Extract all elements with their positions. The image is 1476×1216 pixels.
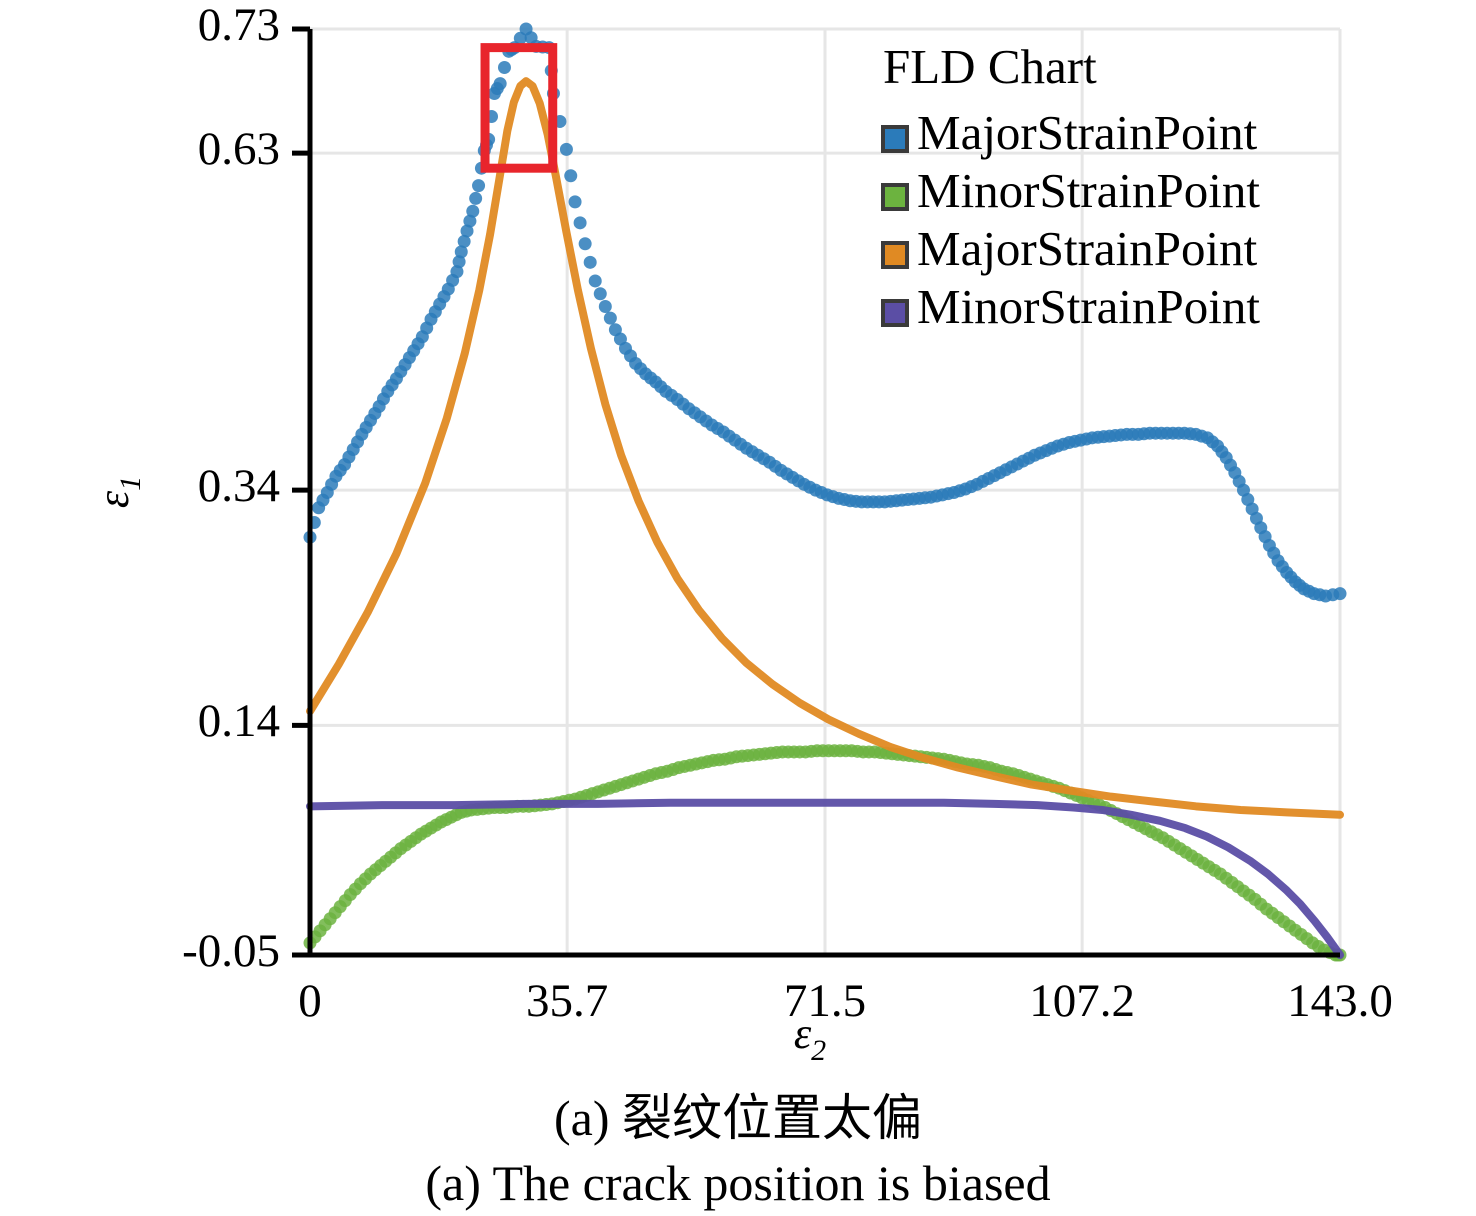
data-point <box>494 77 507 90</box>
data-point <box>574 216 587 229</box>
data-point <box>604 312 617 325</box>
caption-chinese: (a) 裂纹位置太偏 <box>554 1090 922 1146</box>
y-tick-label-1: 0.63 <box>198 123 280 175</box>
legend-marker-1-square-icon[interactable] <box>883 185 907 209</box>
data-point <box>498 61 511 74</box>
x-tick-label-3: 107.2 <box>1029 975 1135 1027</box>
legend-item-3[interactable]: MinorStrainPoint <box>883 279 1260 334</box>
data-point <box>560 143 573 156</box>
data-point <box>569 195 582 208</box>
legend-label-1: MinorStrainPoint <box>917 163 1260 218</box>
x-tick-label-0: 0 <box>298 975 322 1027</box>
data-point <box>469 192 482 205</box>
data-point <box>466 205 479 218</box>
data-point <box>564 169 577 182</box>
figure-root: 0.730.630.340.14-0.05035.771.5107.2143.0… <box>0 0 1476 1216</box>
legend-item-2[interactable]: MajorStrainPoint <box>883 221 1258 276</box>
fld-chart: 0.730.630.340.14-0.05035.771.5107.2143.0… <box>0 0 1476 1216</box>
legend-marker-0-square-icon[interactable] <box>883 127 907 151</box>
data-point <box>579 237 592 250</box>
x-tick-label-1: 35.7 <box>526 975 608 1027</box>
legend-marker-3-square-icon[interactable] <box>883 301 907 325</box>
data-point <box>1334 587 1347 600</box>
data-point <box>584 256 597 269</box>
caption-english: (a) The crack position is biased <box>425 1155 1050 1211</box>
legend-item-0[interactable]: MajorStrainPoint <box>883 105 1258 160</box>
data-point <box>599 300 612 313</box>
x-axis-title-subscript: 2 <box>811 1034 826 1067</box>
legend-title: FLD Chart <box>883 39 1097 94</box>
x-tick-label-4: 143.0 <box>1287 975 1393 1027</box>
legend-item-1[interactable]: MinorStrainPoint <box>883 163 1260 218</box>
y-tick-label-0: 0.73 <box>198 0 280 51</box>
legend-marker-2-square-icon[interactable] <box>883 243 907 267</box>
legend-label-0: MajorStrainPoint <box>917 105 1258 160</box>
y-tick-label-4: -0.05 <box>182 925 280 977</box>
data-point <box>589 274 602 287</box>
data-point <box>472 179 485 192</box>
y-axis-title-subscript: 1 <box>114 476 147 491</box>
legend-label-3: MinorStrainPoint <box>917 279 1260 334</box>
y-tick-label-2: 0.34 <box>198 460 280 512</box>
data-point <box>594 287 607 300</box>
y-tick-label-3: 0.14 <box>198 695 280 747</box>
legend-label-2: MajorStrainPoint <box>917 221 1258 276</box>
